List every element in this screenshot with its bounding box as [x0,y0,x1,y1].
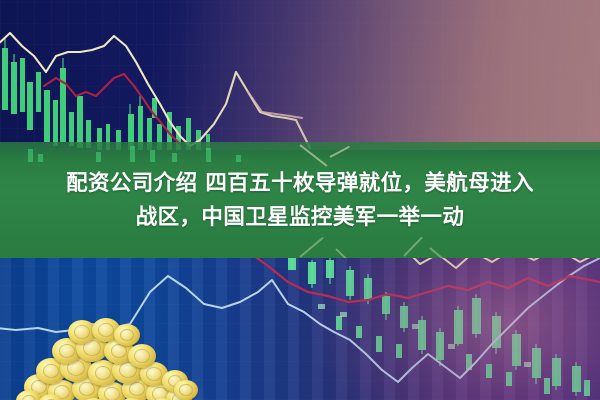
top-crimson-line [44,74,180,144]
bottom-chart-glow [310,258,600,400]
top-chart-trend-lines [0,0,600,150]
top-cream-line-tail [248,92,302,118]
top-chart-panel [0,0,600,150]
top-cream-line [0,33,310,148]
banner-image: 配资公司介绍 四百五十枚导弹就位，美航母进入 战区，中国卫星监控美军一举一动 [0,0,600,400]
headline-line-2: 战区，中国卫星监控美军一举一动 [136,201,465,235]
gold-coin-pile [14,318,200,400]
bottom-chart-panel [0,258,600,400]
headline-line-1: 配资公司介绍 四百五十枚导弹就位，美航母进入 [66,167,534,201]
headline-banner: 配资公司介绍 四百五十枚导弹就位，美航母进入 战区，中国卫星监控美军一举一动 [0,142,600,259]
headline-text-block: 配资公司介绍 四百五十枚导弹就位，美航母进入 战区，中国卫星监控美军一举一动 [0,142,600,259]
